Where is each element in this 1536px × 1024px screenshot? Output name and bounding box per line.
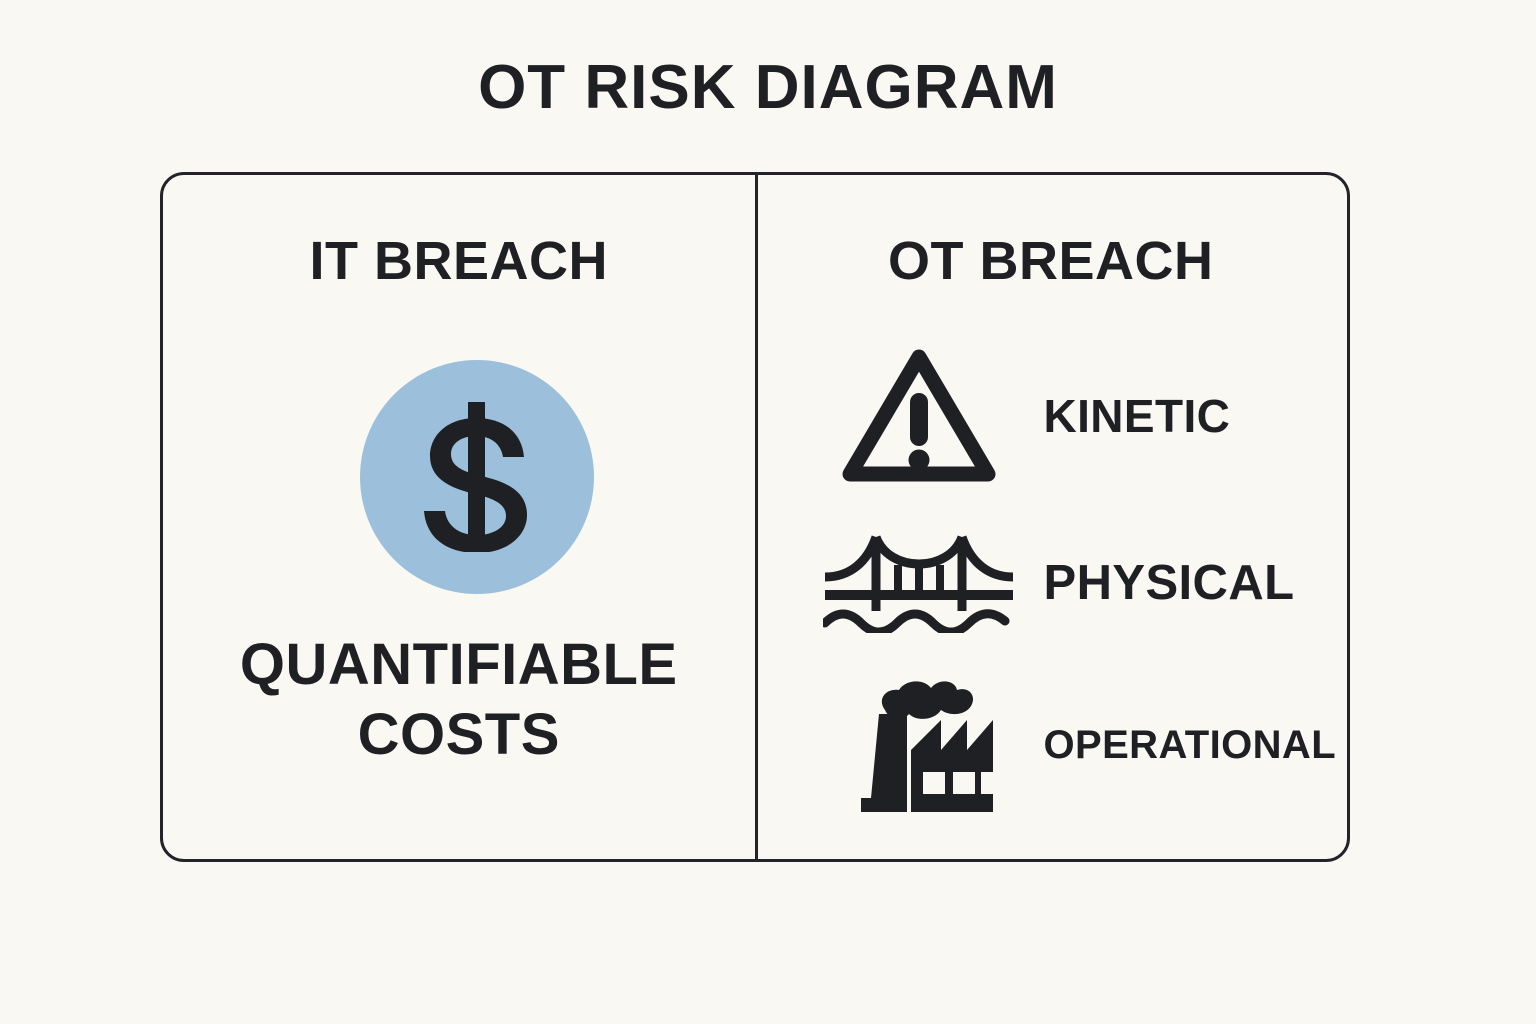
risk-item-physical: PHYSICAL <box>817 531 1317 635</box>
comparison-card: IT BREACH QUANTIFIABLE COSTS OT BR <box>160 172 1350 862</box>
risk-item-kinetic: KINETIC <box>817 341 1317 491</box>
risk-item-operational: OPERATIONAL <box>817 675 1317 815</box>
panel-ot-breach: OT BREACH KINETIC <box>755 175 1348 859</box>
caption-line-2: COSTS <box>163 700 755 770</box>
ot-risk-diagram: OT RISK DIAGRAM IT BREACH QUANTIFIABLE <box>0 0 1536 1024</box>
panel-heading-ot-breach: OT BREACH <box>755 230 1348 292</box>
risk-label-operational: OPERATIONAL <box>1044 722 1337 768</box>
warning-triangle-icon <box>817 341 1022 491</box>
panel-heading-it-breach: IT BREACH <box>163 230 755 292</box>
page-title: OT RISK DIAGRAM <box>0 52 1536 124</box>
factory-icon <box>817 675 1022 815</box>
suspension-bridge-icon <box>817 531 1022 635</box>
panel-it-breach: IT BREACH QUANTIFIABLE COSTS <box>163 175 755 859</box>
dollar-coin-badge <box>360 360 594 594</box>
quantifiable-costs-caption: QUANTIFIABLE COSTS <box>163 630 755 770</box>
risk-label-kinetic: KINETIC <box>1044 390 1231 442</box>
caption-line-1: QUANTIFIABLE <box>163 630 755 700</box>
risk-label-physical: PHYSICAL <box>1044 555 1295 611</box>
dollar-sign-icon <box>418 402 536 552</box>
